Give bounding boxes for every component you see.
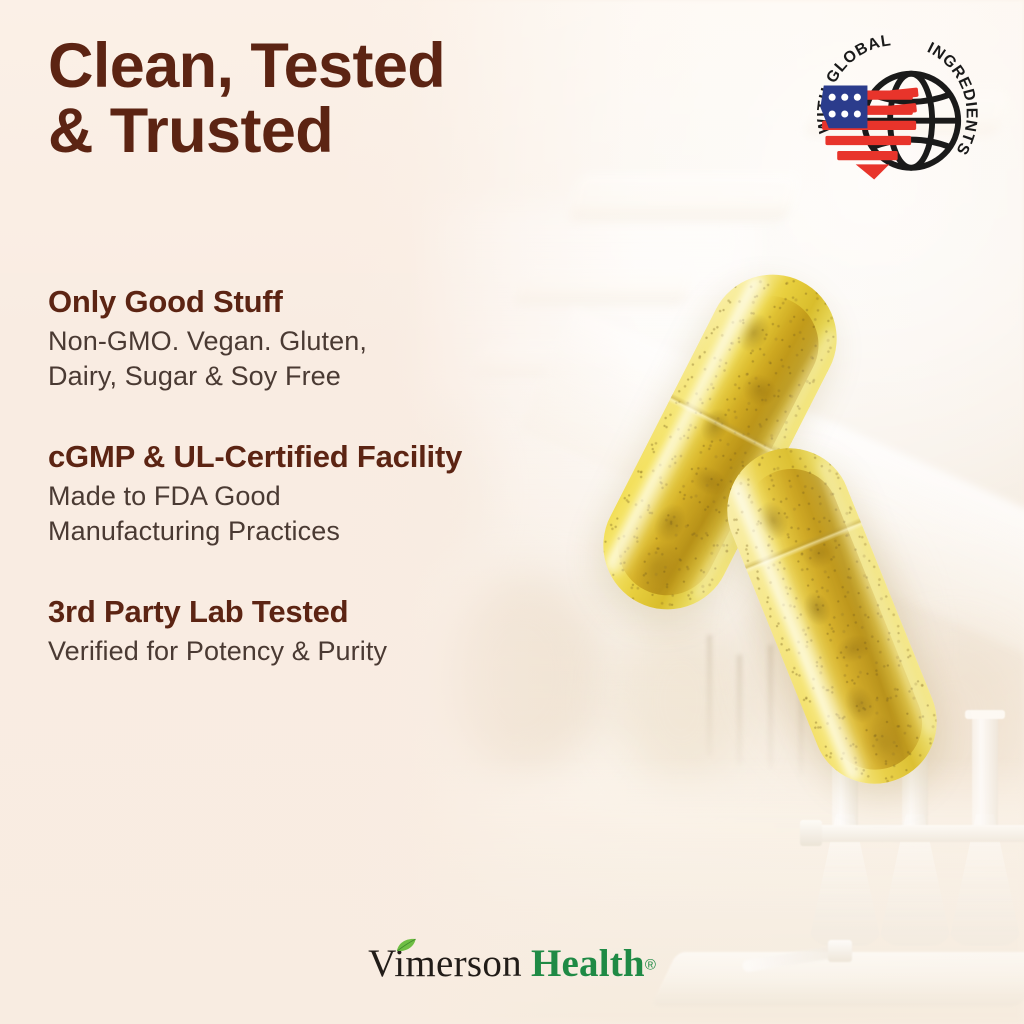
feature-title: 3rd Party Lab Tested (48, 595, 648, 630)
feature-item-only-good-stuff: Only Good Stuff Non-GMO. Vegan. Gluten,D… (48, 285, 648, 394)
headline-line-1: Clean, Tested (48, 31, 445, 101)
feature-title: cGMP & UL-Certified Facility (48, 440, 648, 475)
feature-body: Non-GMO. Vegan. Gluten,Dairy, Sugar & So… (48, 324, 648, 394)
brand-name-primary: Vimerson (368, 942, 522, 985)
feature-body: Verified for Potency & Purity (48, 634, 648, 669)
yellow-capsule (709, 430, 956, 803)
feature-item-3rd-party-lab-tested: 3rd Party Lab Tested Verified for Potenc… (48, 595, 648, 669)
feature-body-line: Dairy, Sugar & Soy Free (48, 361, 341, 391)
headline-line-2: & Trusted (48, 96, 333, 166)
brand-name-secondary: Health (531, 942, 645, 985)
brand-logo-inner: VimersonHealth® (368, 941, 656, 986)
product-infographic: WITH GLOBAL INGREDIENTS (0, 0, 1024, 1024)
leaf-icon (395, 938, 417, 953)
feature-body-line: Non-GMO. Vegan. Gluten, (48, 326, 367, 356)
feature-title: Only Good Stuff (48, 285, 648, 320)
brand-logo: VimersonHealth® (0, 941, 1024, 986)
capsule-product-group (620, 250, 960, 790)
feature-body-line: Verified for Potency & Purity (48, 636, 387, 666)
feature-body-line: Manufacturing Practices (48, 516, 340, 546)
feature-list: Only Good Stuff Non-GMO. Vegan. Gluten,D… (48, 285, 648, 669)
text-panel: Clean, Tested& Trusted Only Good Stuff N… (0, 0, 660, 1024)
global-ingredients-badge: WITH GLOBAL INGREDIENTS (812, 30, 980, 198)
registered-trademark-symbol: ® (645, 957, 656, 974)
feature-body-line: Made to FDA Good (48, 481, 281, 511)
page-title: Clean, Tested& Trusted (48, 34, 648, 164)
feature-item-cgmp-ul-certified: cGMP & UL-Certified Facility Made to FDA… (48, 440, 648, 549)
feature-body: Made to FDA GoodManufacturing Practices (48, 479, 648, 549)
